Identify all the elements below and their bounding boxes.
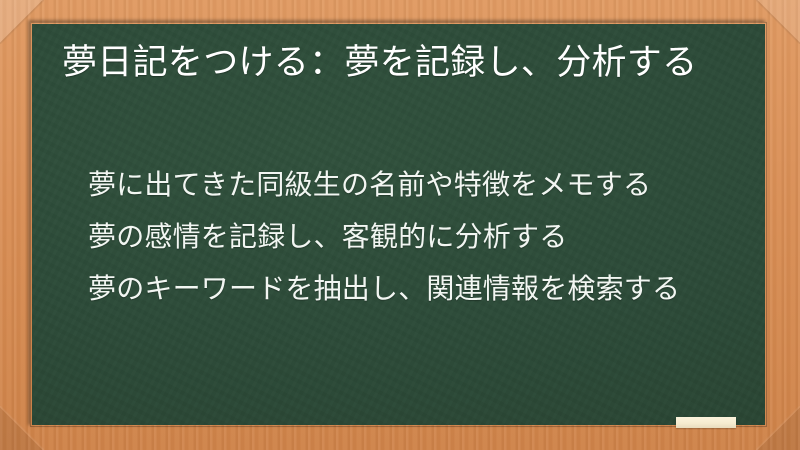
bullet-item: 夢の感情を記録し、客観的に分析する [88,223,748,251]
chalkboard-surface: 夢日記をつける：夢を記録し、分析する 夢に出てきた同級生の名前や特徴をメモする … [32,24,765,425]
slide-title: 夢日記をつける：夢を記録し、分析する [62,41,748,87]
bullet-item: 夢に出てきた同級生の名前や特徴をメモする [88,171,748,199]
slide-content: 夢日記をつける：夢を記録し、分析する 夢に出てきた同級生の名前や特徴をメモする … [32,24,765,425]
chalkboard-slide: 夢日記をつける：夢を記録し、分析する 夢に出てきた同級生の名前や特徴をメモする … [0,0,800,450]
bullet-item: 夢のキーワードを抽出し、関連情報を検索する [88,275,748,303]
chalk-stick-icon [676,417,736,428]
bullet-list: 夢に出てきた同級生の名前や特徴をメモする 夢の感情を記録し、客観的に分析する 夢… [88,171,748,303]
